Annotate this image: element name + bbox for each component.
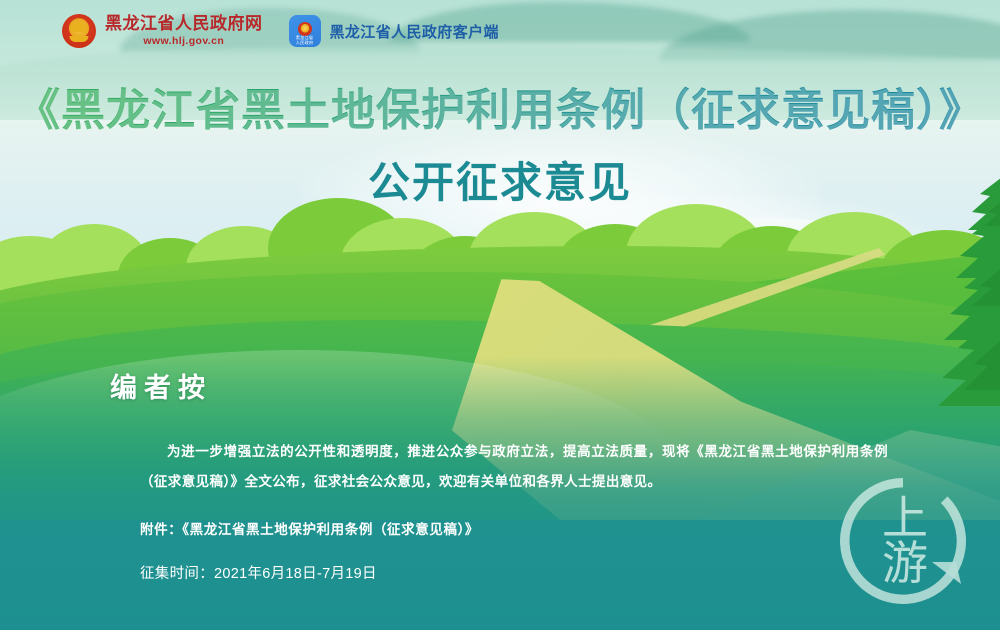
editor-note-heading: 编者按 bbox=[110, 366, 1000, 405]
title-block: 《黑龙江省黑土地保护利用条例（征求意见稿）》 公开征求意见 bbox=[0, 85, 1000, 210]
shangyou-watermark: 上 游 bbox=[828, 466, 978, 616]
watermark-characters: 上 游 bbox=[828, 466, 978, 616]
gov-app-icon: 黑龙江省人民政府 bbox=[289, 15, 321, 47]
gov-site-url: www.hlj.gov.cn bbox=[105, 36, 263, 47]
app-icon-label: 黑龙江省人民政府 bbox=[289, 35, 321, 46]
watermark-line-2: 游 bbox=[882, 541, 928, 586]
editor-note-body: 为进一步增强立法的公开性和透明度，推进公众参与政府立法，提高立法质量，现将《黑龙… bbox=[140, 437, 888, 496]
gov-site-name: 黑龙江省人民政府网 bbox=[105, 15, 263, 33]
gov-site-logo[interactable]: 黑龙江省人民政府网 www.hlj.gov.cn bbox=[62, 14, 263, 48]
gov-site-text: 黑龙江省人民政府网 www.hlj.gov.cn bbox=[105, 15, 263, 47]
gov-app-logo[interactable]: 黑龙江省人民政府 黑龙江省人民政府客户端 bbox=[289, 15, 499, 47]
gov-app-name: 黑龙江省人民政府客户端 bbox=[330, 21, 499, 42]
page-subtitle: 公开征求意见 bbox=[0, 149, 1000, 210]
watermark-line-1: 上 bbox=[882, 496, 928, 541]
national-emblem-icon bbox=[62, 14, 96, 48]
page-title: 《黑龙江省黑土地保护利用条例（征求意见稿）》 bbox=[0, 85, 1000, 137]
poster-root: 黑龙江省人民政府网 www.hlj.gov.cn 黑龙江省人民政府 黑龙江省人民… bbox=[0, 0, 1000, 630]
header-logo-bar: 黑龙江省人民政府网 www.hlj.gov.cn 黑龙江省人民政府 黑龙江省人民… bbox=[0, 0, 1000, 62]
